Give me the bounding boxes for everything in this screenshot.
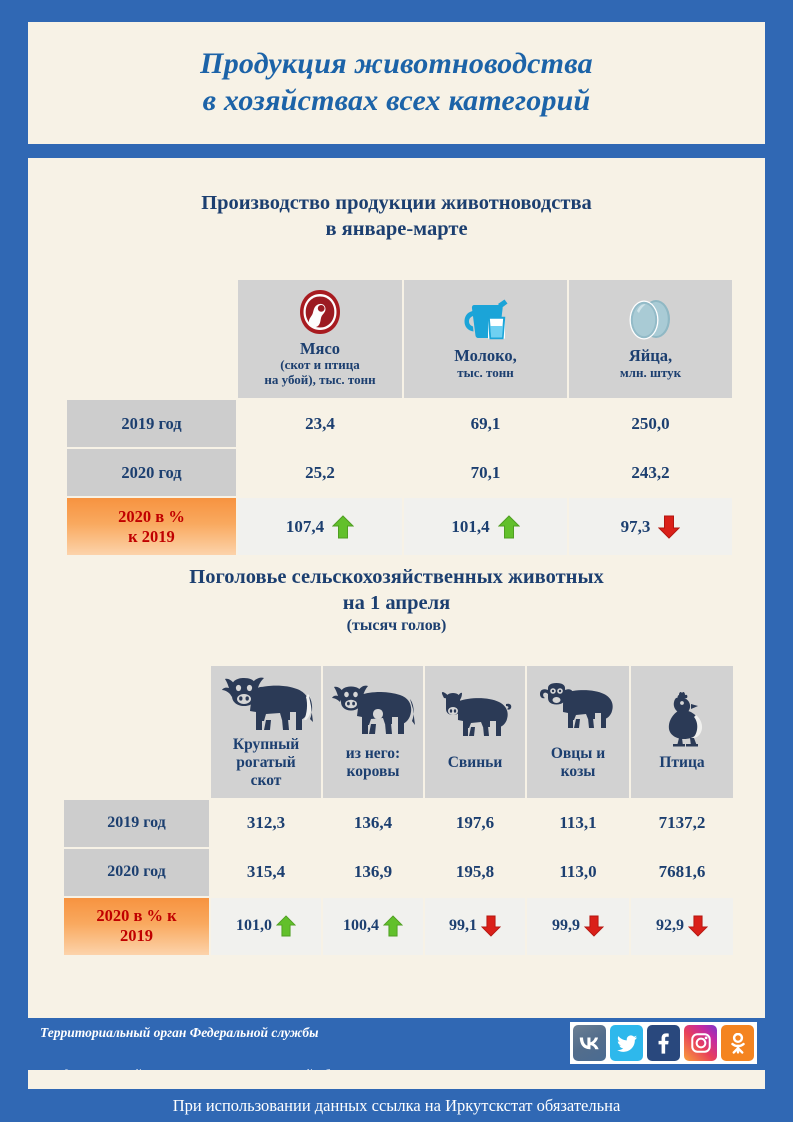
value-pigs-percent: 99,1 [449,917,477,935]
row-label-percent: 2020 в % к 2019 [67,498,236,555]
cell-cows-2020: 136,9 [323,849,423,896]
header-label-poultry: Птица [633,754,731,772]
header-unit-meat-2: на убой), тыс. тонн [242,373,398,388]
footer-spacer [28,1070,765,1089]
header-cell-poultry: Птица [631,666,733,798]
social-links [570,1022,757,1064]
footer-org-line1: Территориальный орган Федеральной службы [40,1025,319,1040]
cell-eggs-2019: 250,0 [569,400,732,447]
section2-title-line2: на 1 апреля [343,592,450,614]
row-label-2020: 2020 год [67,449,236,496]
section1-title-line2: в январе-марте [325,218,467,240]
pig-icon [427,690,523,752]
arrow-up-icon [498,515,520,539]
cell-eggs-2020: 243,2 [569,449,732,496]
header-label-cows-2: коровы [325,763,421,781]
header-cell-cattle: Крупный рогатый скот [211,666,321,798]
value-poultry-percent: 92,9 [656,917,684,935]
arrow-down-icon [658,515,680,539]
value-cattle-percent: 101,0 [236,917,272,935]
header-cell-milk: Молоко, тыс. тонн [404,280,567,398]
cell-cattle-percent: 101,0 [211,898,321,955]
table-row-percent: 2020 в % к 2019 101,0 100,4 [64,898,733,955]
table-row: 2020 год 25,2 70,1 243,2 [67,449,732,496]
row-label-percent-line2: 2019 [120,926,153,945]
header-label-cattle-3: скот [213,772,319,790]
page-title-line1: Продукция животноводства [200,47,593,80]
cell-milk-2019: 69,1 [404,400,567,447]
section2-title-line1: Поголовье сельскохозяйственных животных [189,566,603,588]
value-eggs-percent: 97,3 [621,517,651,537]
header-label-milk: Молоко, [408,347,563,365]
value-meat-percent: 107,4 [286,517,324,537]
footer-note: При использовании данных ссылка на Иркут… [0,1089,793,1122]
row-label-percent: 2020 в % к 2019 [64,898,209,955]
odnoklassniki-icon[interactable] [721,1025,754,1061]
header-cell-cows: из него: коровы [323,666,423,798]
arrow-up-icon [383,915,403,937]
cell-eggs-percent: 97,3 [569,498,732,555]
header-label-eggs: Яйца, [573,347,728,365]
header-cell-sheep: Овцы и козы [527,666,629,798]
header-unit-eggs: млн. штук [573,366,728,381]
milk-jug-icon [408,295,563,345]
header-label-sheep-1: Овцы и [529,745,627,763]
cell-milk-percent: 101,4 [404,498,567,555]
meat-icon [242,288,398,338]
value-milk-percent: 101,4 [451,517,489,537]
instagram-icon[interactable] [684,1025,717,1061]
value-sheep-percent: 99,9 [552,917,580,935]
cell-milk-2020: 70,1 [404,449,567,496]
header-unit-milk: тыс. тонн [408,366,563,381]
production-table: Мясо (скот и птица на убой), тыс. тонн [65,278,734,557]
row-label-2019: 2019 год [67,400,236,447]
arrow-down-icon [481,915,501,937]
row-label-percent-line1: 2020 в % [118,507,185,526]
table-row-percent: 2020 в % к 2019 107,4 101,4 [67,498,732,555]
livestock-table: Крупный рогатый скот [62,664,735,957]
cell-pigs-2020: 195,8 [425,849,525,896]
cow-icon [325,681,421,743]
arrow-down-icon [688,915,708,937]
infographic-page: Продукция животноводства в хозяйствах вс… [0,0,793,1122]
header-label-cows-1: из него: [325,745,421,763]
arrow-up-icon [332,515,354,539]
cell-poultry-2019: 7137,2 [631,800,733,847]
header-blank-cell [67,280,236,398]
cell-meat-2020: 25,2 [238,449,402,496]
section1-title-line1: Производство продукции животноводства [201,192,592,214]
footer-band: Территориальный орган Федеральной службы… [28,1018,765,1070]
facebook-icon[interactable] [647,1025,680,1061]
table-row: 2019 год 312,3 136,4 197,6 113,1 7137,2 [64,800,733,847]
header-blank-cell [64,666,209,798]
row-label-2020: 2020 год [64,849,209,896]
cell-poultry-percent: 92,9 [631,898,733,955]
section2-units: (тысяч голов) [28,616,765,636]
cell-meat-percent: 107,4 [238,498,402,555]
section1-title: Производство продукции животноводства в … [28,190,765,242]
cell-cows-2019: 136,4 [323,800,423,847]
section2-title: Поголовье сельскохозяйственных животных … [28,564,765,637]
bull-icon [213,672,319,734]
header-label-sheep-2: козы [529,763,627,781]
header-label-pigs: Свиньи [427,754,523,772]
row-label-percent-line1: 2020 в % к [96,906,176,925]
cell-cattle-2020: 315,4 [211,849,321,896]
header-label-cattle-1: Крупный [213,736,319,754]
page-title: Продукция животноводства в хозяйствах вс… [200,46,593,119]
cell-meat-2019: 23,4 [238,400,402,447]
header-panel: Продукция животноводства в хозяйствах вс… [28,22,765,144]
arrow-down-icon [584,915,604,937]
header-cell-eggs: Яйца, млн. штук [569,280,732,398]
cell-sheep-2020: 113,0 [527,849,629,896]
cell-poultry-2020: 7681,6 [631,849,733,896]
cell-pigs-2019: 197,6 [425,800,525,847]
header-cell-pigs: Свиньи [425,666,525,798]
chicken-icon [633,690,731,752]
table-header-row: Крупный рогатый скот [64,666,733,798]
eggs-icon [573,295,728,345]
table-row: 2020 год 315,4 136,9 195,8 113,0 7681,6 [64,849,733,896]
header-label-meat: Мясо [242,340,398,358]
cell-cows-percent: 100,4 [323,898,423,955]
header-cell-meat: Мясо (скот и птица на убой), тыс. тонн [238,280,402,398]
page-title-line2: в хозяйствах всех категорий [200,83,593,120]
header-divider [28,149,765,158]
twitter-icon[interactable] [610,1025,643,1061]
value-cows-percent: 100,4 [343,917,379,935]
cell-sheep-2019: 113,1 [527,800,629,847]
cell-sheep-percent: 99,9 [527,898,629,955]
cell-pigs-percent: 99,1 [425,898,525,955]
row-label-percent-line2: к 2019 [128,527,175,546]
table-row: 2019 год 23,4 69,1 250,0 [67,400,732,447]
sheep-icon [529,681,627,743]
vk-icon[interactable] [573,1025,606,1061]
cell-cattle-2019: 312,3 [211,800,321,847]
row-label-2019: 2019 год [64,800,209,847]
arrow-up-icon [276,915,296,937]
body-panel: Производство продукции животноводства в … [28,158,765,1018]
table-header-row: Мясо (скот и птица на убой), тыс. тонн [67,280,732,398]
header-unit-meat-1: (скот и птица [242,358,398,373]
header-label-cattle-2: рогатый [213,754,319,772]
